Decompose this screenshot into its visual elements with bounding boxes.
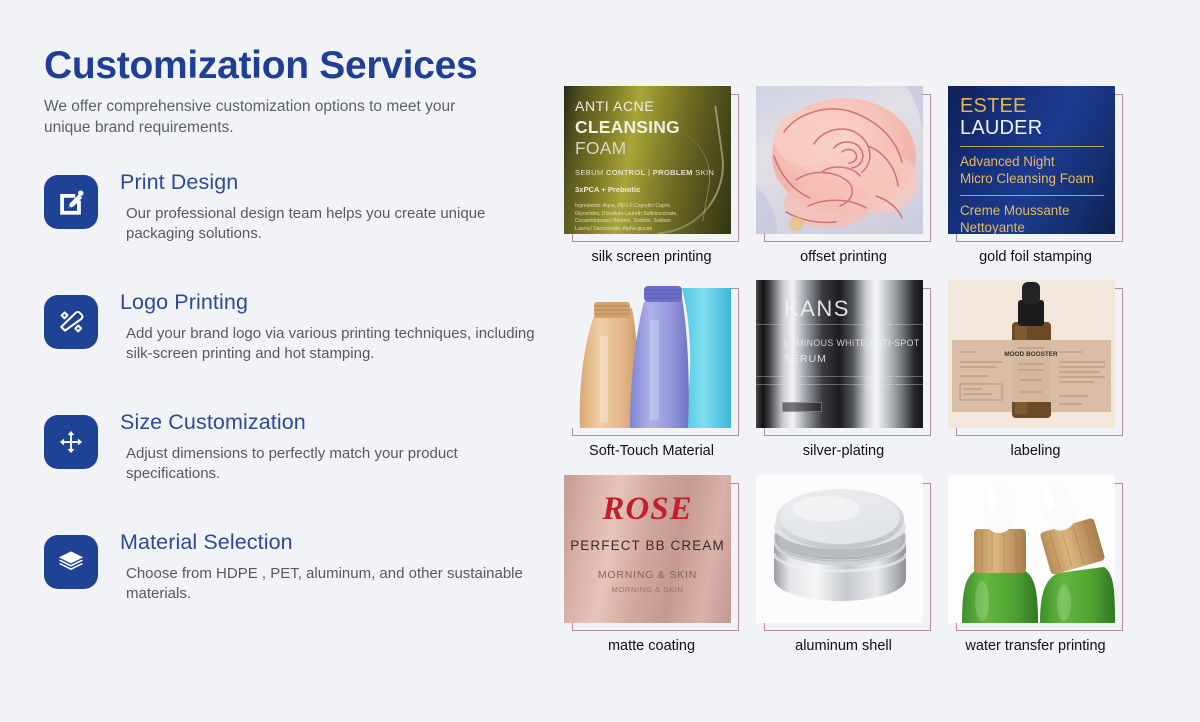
label-line-3: MORNING & SKIN: [564, 569, 731, 581]
label-line-3: Creme Moussante: [960, 202, 1104, 219]
gallery-column: ANTI ACNE CLEANSING FOAM SEBUM CONTROL |…: [560, 0, 1200, 722]
feature-title: Logo Printing: [120, 290, 546, 316]
feature-title: Material Selection: [120, 530, 546, 556]
feature-title: Print Design: [120, 170, 546, 196]
brand-name: KANS: [784, 296, 923, 322]
green-bottles-illustration: [948, 475, 1115, 623]
kans-silver-serum-bottle-image: KANS LUMINOUS WHITE ANTI-SPOT SERUM: [756, 280, 923, 428]
feature-item-material-selection[interactable]: Material Selection Choose from HDPE , PE…: [44, 530, 560, 626]
label-control: CONTROL: [606, 168, 646, 177]
left-content-column: Customization Services We offer comprehe…: [0, 0, 560, 722]
rose-illustration: [756, 86, 923, 234]
feature-item-print-design[interactable]: Print Design Our professional design tea…: [44, 170, 560, 266]
gallery-item-labeling[interactable]: MOOD BOOSTER labeling: [948, 280, 1123, 460]
feature-item-size-customization[interactable]: Size Customization Adjust dimensions to …: [44, 410, 560, 506]
gallery-caption: water transfer printing: [948, 638, 1123, 655]
gallery-caption: silver-plating: [756, 443, 931, 460]
gallery-item-gold-foil-stamping[interactable]: ESTEE LAUDER Advanced Night Micro Cleans…: [948, 86, 1123, 266]
thumbnail-wrapper: ANTI ACNE CLEANSING FOAM SEBUM CONTROL |…: [564, 86, 739, 242]
label-line-2: SERUM: [784, 353, 923, 365]
dropper-bottle-with-labels: MOOD BOOSTER: [948, 280, 1115, 428]
label-line-2-light: FOAM: [575, 138, 626, 158]
feature-description: Add your brand logo via various printing…: [126, 324, 546, 365]
divider-rule: [960, 146, 1104, 147]
bottle-highlight-line-3: [756, 384, 923, 385]
stamp-pen-icon: [44, 295, 98, 349]
gallery-item-soft-touch-material[interactable]: Soft-Touch Material: [564, 280, 739, 460]
thumbnail-wrapper: ESTEE LAUDER Advanced Night Micro Cleans…: [948, 86, 1123, 242]
thumbnail-wrapper: [564, 280, 739, 436]
gallery-caption: silk screen printing: [564, 249, 739, 266]
bottle-highlight-line-2: [756, 376, 923, 377]
divider-rule-2: [960, 195, 1104, 196]
label-line-1: LUMINOUS WHITE ANTI-SPOT: [784, 338, 923, 348]
gallery-item-silver-plating[interactable]: KANS LUMINOUS WHITE ANTI-SPOT SERUM silv…: [756, 280, 931, 460]
svg-text:MOOD BOOSTER: MOOD BOOSTER: [1004, 351, 1058, 358]
feature-body: Logo Printing Add your brand logo via va…: [120, 290, 546, 365]
frosted-soft-touch-tubes-image: [564, 280, 731, 428]
layers-stack-icon: [44, 535, 98, 589]
gallery-caption: offset printing: [756, 249, 931, 266]
feature-title: Size Customization: [120, 410, 546, 436]
gallery-item-silk-screen-printing[interactable]: ANTI ACNE CLEANSING FOAM SEBUM CONTROL |…: [564, 86, 739, 266]
product-gallery-grid: ANTI ACNE CLEANSING FOAM SEBUM CONTROL |…: [564, 86, 1200, 655]
brand-line-2: LAUDER: [960, 118, 1104, 140]
gallery-item-offset-printing[interactable]: offset printing: [756, 86, 931, 266]
frosted-tubes-illustration: [564, 280, 731, 428]
estee-lauder-navy-gold-carton-image: ESTEE LAUDER Advanced Night Micro Cleans…: [948, 86, 1115, 234]
feature-body: Print Design Our professional design tea…: [120, 170, 546, 245]
feature-list: Print Design Our professional design tea…: [44, 170, 560, 626]
thumbnail-wrapper: KANS LUMINOUS WHITE ANTI-SPOT SERUM: [756, 280, 931, 436]
label-line-1: Advanced Night: [960, 153, 1104, 170]
gallery-caption: labeling: [948, 443, 1123, 460]
label-line-1: ROSE: [564, 493, 731, 526]
label-line-4: MORNING & SKIN: [564, 585, 731, 594]
green-dropper-bottles-wood-caps-image: [948, 475, 1115, 623]
chinese-text-box: [782, 402, 822, 412]
pink-watercolor-rose-print-image: [756, 86, 923, 234]
feature-description: Adjust dimensions to perfectly match you…: [126, 444, 546, 485]
gallery-caption: gold foil stamping: [948, 249, 1123, 266]
thumbnail-wrapper: [948, 475, 1123, 631]
bottle-highlight-line-1: [756, 324, 923, 325]
page-title: Customization Services: [44, 46, 560, 86]
label-line-2: Micro Cleansing Foam: [960, 170, 1104, 187]
label-line-4: Nettoyante: [960, 219, 1104, 234]
gallery-caption: aluminum shell: [756, 638, 931, 655]
feature-body: Material Selection Choose from HDPE , PE…: [120, 530, 546, 605]
gallery-caption: Soft-Touch Material: [564, 443, 739, 460]
rose-bb-cream-matte-jar-image: ROSE PERFECT BB CREAM MORNING & SKIN MOR…: [564, 475, 731, 623]
gallery-item-matte-coating[interactable]: ROSE PERFECT BB CREAM MORNING & SKIN MOR…: [564, 475, 739, 655]
gallery-caption: matte coating: [564, 638, 739, 655]
label-line-2: PERFECT BB CREAM: [564, 538, 731, 553]
pencil-square-icon: [44, 175, 98, 229]
olive-cleansing-foam-bottle-image: ANTI ACNE CLEANSING FOAM SEBUM CONTROL |…: [564, 86, 731, 234]
brand-line-1: ESTEE: [960, 96, 1104, 118]
arrows-expand-icon: [44, 415, 98, 469]
feature-description: Our professional design team helps you c…: [126, 204, 546, 245]
feature-item-logo-printing[interactable]: Logo Printing Add your brand logo via va…: [44, 290, 560, 386]
gallery-item-water-transfer-printing[interactable]: water transfer printing: [948, 475, 1123, 655]
mood-booster-dropper-bottle-labels-image: MOOD BOOSTER: [948, 280, 1115, 428]
label-sebum: SEBUM: [575, 168, 604, 177]
page-subtitle: We offer comprehensive customization opt…: [44, 96, 494, 138]
thumbnail-wrapper: [756, 86, 931, 242]
thumbnail-wrapper: [756, 475, 931, 631]
aluminum-tin-illustration: [756, 475, 923, 623]
feature-description: Choose from HDPE , PET, aluminum, and ot…: [126, 564, 546, 605]
thumbnail-wrapper: ROSE PERFECT BB CREAM MORNING & SKIN MOR…: [564, 475, 739, 631]
feature-body: Size Customization Adjust dimensions to …: [120, 410, 546, 485]
gallery-item-aluminum-shell[interactable]: aluminum shell: [756, 475, 931, 655]
thumbnail-wrapper: MOOD BOOSTER: [948, 280, 1123, 436]
customization-services-page: Customization Services We offer comprehe…: [0, 0, 1200, 722]
aluminum-screw-top-tin-image: [756, 475, 923, 623]
